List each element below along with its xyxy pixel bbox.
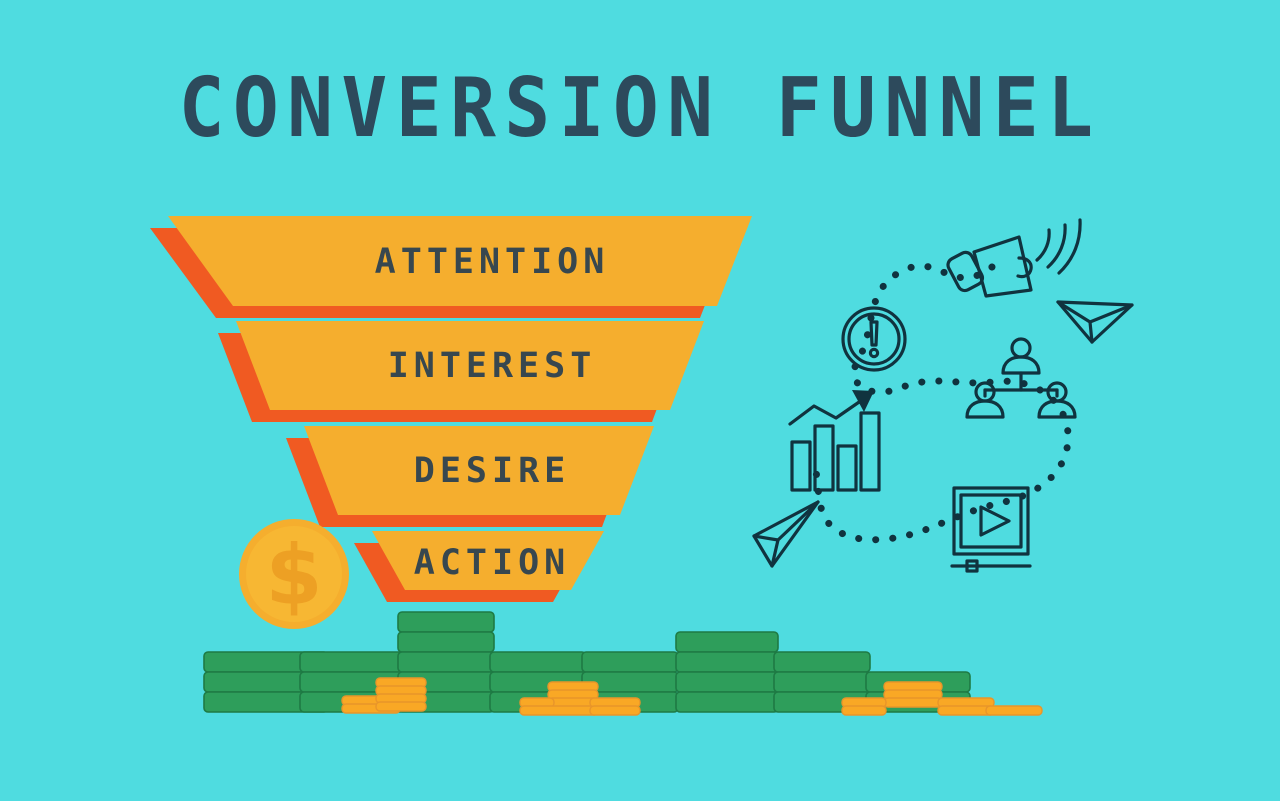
funnel-stage-1-label: ATTENTION [375,242,610,282]
cash-bundle [398,632,494,652]
funnel-stage-2-label: INTEREST [388,346,597,386]
alert-exclamation-bar [871,322,877,345]
chart-bar-3 [838,446,856,490]
funnel-stage-3-label: DESIRE [414,451,570,491]
chart-bar-2 [815,426,833,490]
cash-bundle [398,612,494,632]
alert-exclamation-dot [870,349,877,356]
cash-bundle [676,672,778,692]
conversion-funnel: ATTENTION INTEREST DESIRE ACTION [140,190,760,610]
chart-trend-arrowhead [852,390,874,412]
money-stacks [190,600,1090,730]
coin-stack-disc [376,702,426,711]
cash-bundle [676,692,778,712]
network-people-icon [967,339,1075,417]
funnel-stage-action[interactable]: ACTION [354,531,604,602]
cash-bundle [774,672,870,692]
coin-stack-disc [590,706,640,715]
video-player-icon [952,488,1030,571]
person-body-top [1003,357,1039,373]
video-play-triangle [981,507,1009,535]
bar-chart-growth-icon [790,390,879,490]
person-body-left [967,401,1003,417]
megaphone-icon [946,220,1081,296]
paper-plane-wing [1090,305,1132,322]
funnel-stage-interest[interactable]: INTEREST [218,321,704,422]
marketing-icon-cluster [740,210,1140,590]
chart-bar-4 [861,413,879,490]
infographic-canvas: CONVERSION FUNNEL ATTENTION INTEREST DES… [0,0,1280,801]
dotted-path [816,266,1068,540]
coin-stack-disc [520,706,598,715]
coin-stack-disc [842,706,886,715]
cash-bundle [676,632,778,652]
paper-plane-icon-2 [754,502,818,566]
funnel-stage-desire[interactable]: DESIRE [286,426,654,527]
cash-bundle [676,652,778,672]
funnel-svg: ATTENTION INTEREST DESIRE ACTION [140,190,760,610]
chart-bar-1 [792,442,810,490]
video-frame-outer [954,488,1028,554]
megaphone-wave-1 [1037,230,1049,260]
cash-bundle [490,652,586,672]
paper-plane-icon [1058,302,1132,342]
cash-bundle [774,652,870,672]
megaphone-cone [974,237,1031,296]
funnel-stage-attention[interactable]: ATTENTION [150,216,752,318]
coin-stack-disc [884,698,942,707]
cash-bundle [582,652,678,672]
funnel-stage-4-label: ACTION [414,543,570,583]
chart-trend-line [790,400,862,424]
person-head-top [1012,339,1030,357]
cash-bundle [398,652,494,672]
cash-bundle [300,652,404,672]
page-title: CONVERSION FUNNEL [45,68,1235,150]
person-body-right [1039,401,1075,417]
coin-stack-disc [986,706,1042,715]
